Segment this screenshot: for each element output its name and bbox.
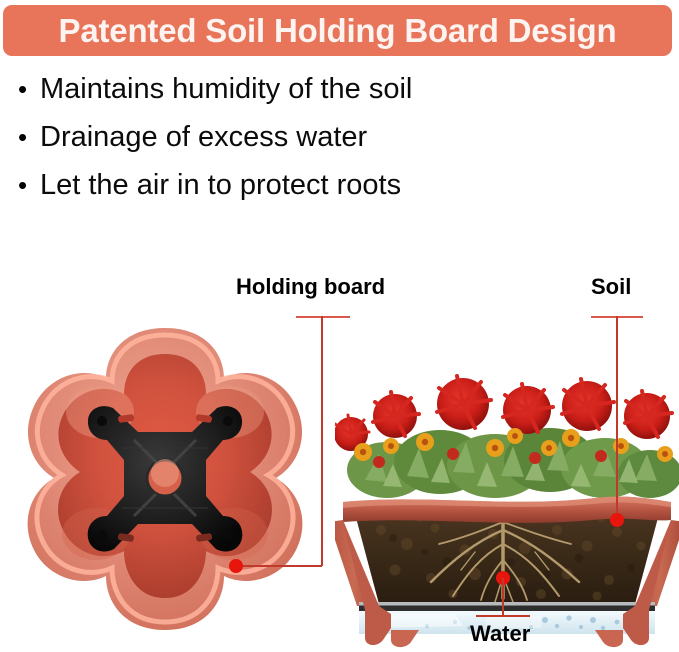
- flower-cluster: [335, 376, 679, 498]
- leader-line-holding-board: [321, 316, 323, 566]
- leader-line-soil: [616, 316, 618, 520]
- product-diagram: Holding board Soil Water: [0, 250, 679, 652]
- planter-foot-right-2: [595, 630, 623, 647]
- soil-body: [355, 514, 659, 604]
- planter-illustration: [335, 330, 679, 650]
- feature-text: Let the air in to protect roots: [40, 168, 401, 202]
- callout-dot-holding-board: [229, 559, 243, 573]
- callout-label-holding-board: Holding board: [236, 274, 385, 300]
- feature-list: • Maintains humidity of the soil • Drain…: [18, 72, 658, 216]
- callout-label-water: Water: [470, 621, 530, 647]
- leader-line-holding-board-horizontal: [240, 565, 322, 567]
- list-item: • Drainage of excess water: [18, 120, 658, 168]
- leader-line-water: [502, 578, 504, 616]
- leader-tick-holding-board: [296, 316, 350, 318]
- bullet-icon: •: [18, 168, 40, 202]
- feature-text: Drainage of excess water: [40, 120, 367, 154]
- callout-dot-soil: [610, 513, 624, 527]
- clover-pot-illustration: [10, 320, 320, 640]
- board-layer-highlight: [359, 602, 655, 606]
- list-item: • Maintains humidity of the soil: [18, 72, 658, 120]
- list-item: • Let the air in to protect roots: [18, 168, 658, 216]
- bullet-icon: •: [18, 120, 40, 154]
- planter-foot-left-2: [391, 630, 419, 647]
- bullet-icon: •: [18, 72, 40, 106]
- callout-label-soil: Soil: [591, 274, 631, 300]
- feature-text: Maintains humidity of the soil: [40, 72, 412, 106]
- header-banner: Patented Soil Holding Board Design: [3, 5, 672, 56]
- page-title: Patented Soil Holding Board Design: [3, 5, 672, 56]
- leader-tick-water: [476, 615, 530, 617]
